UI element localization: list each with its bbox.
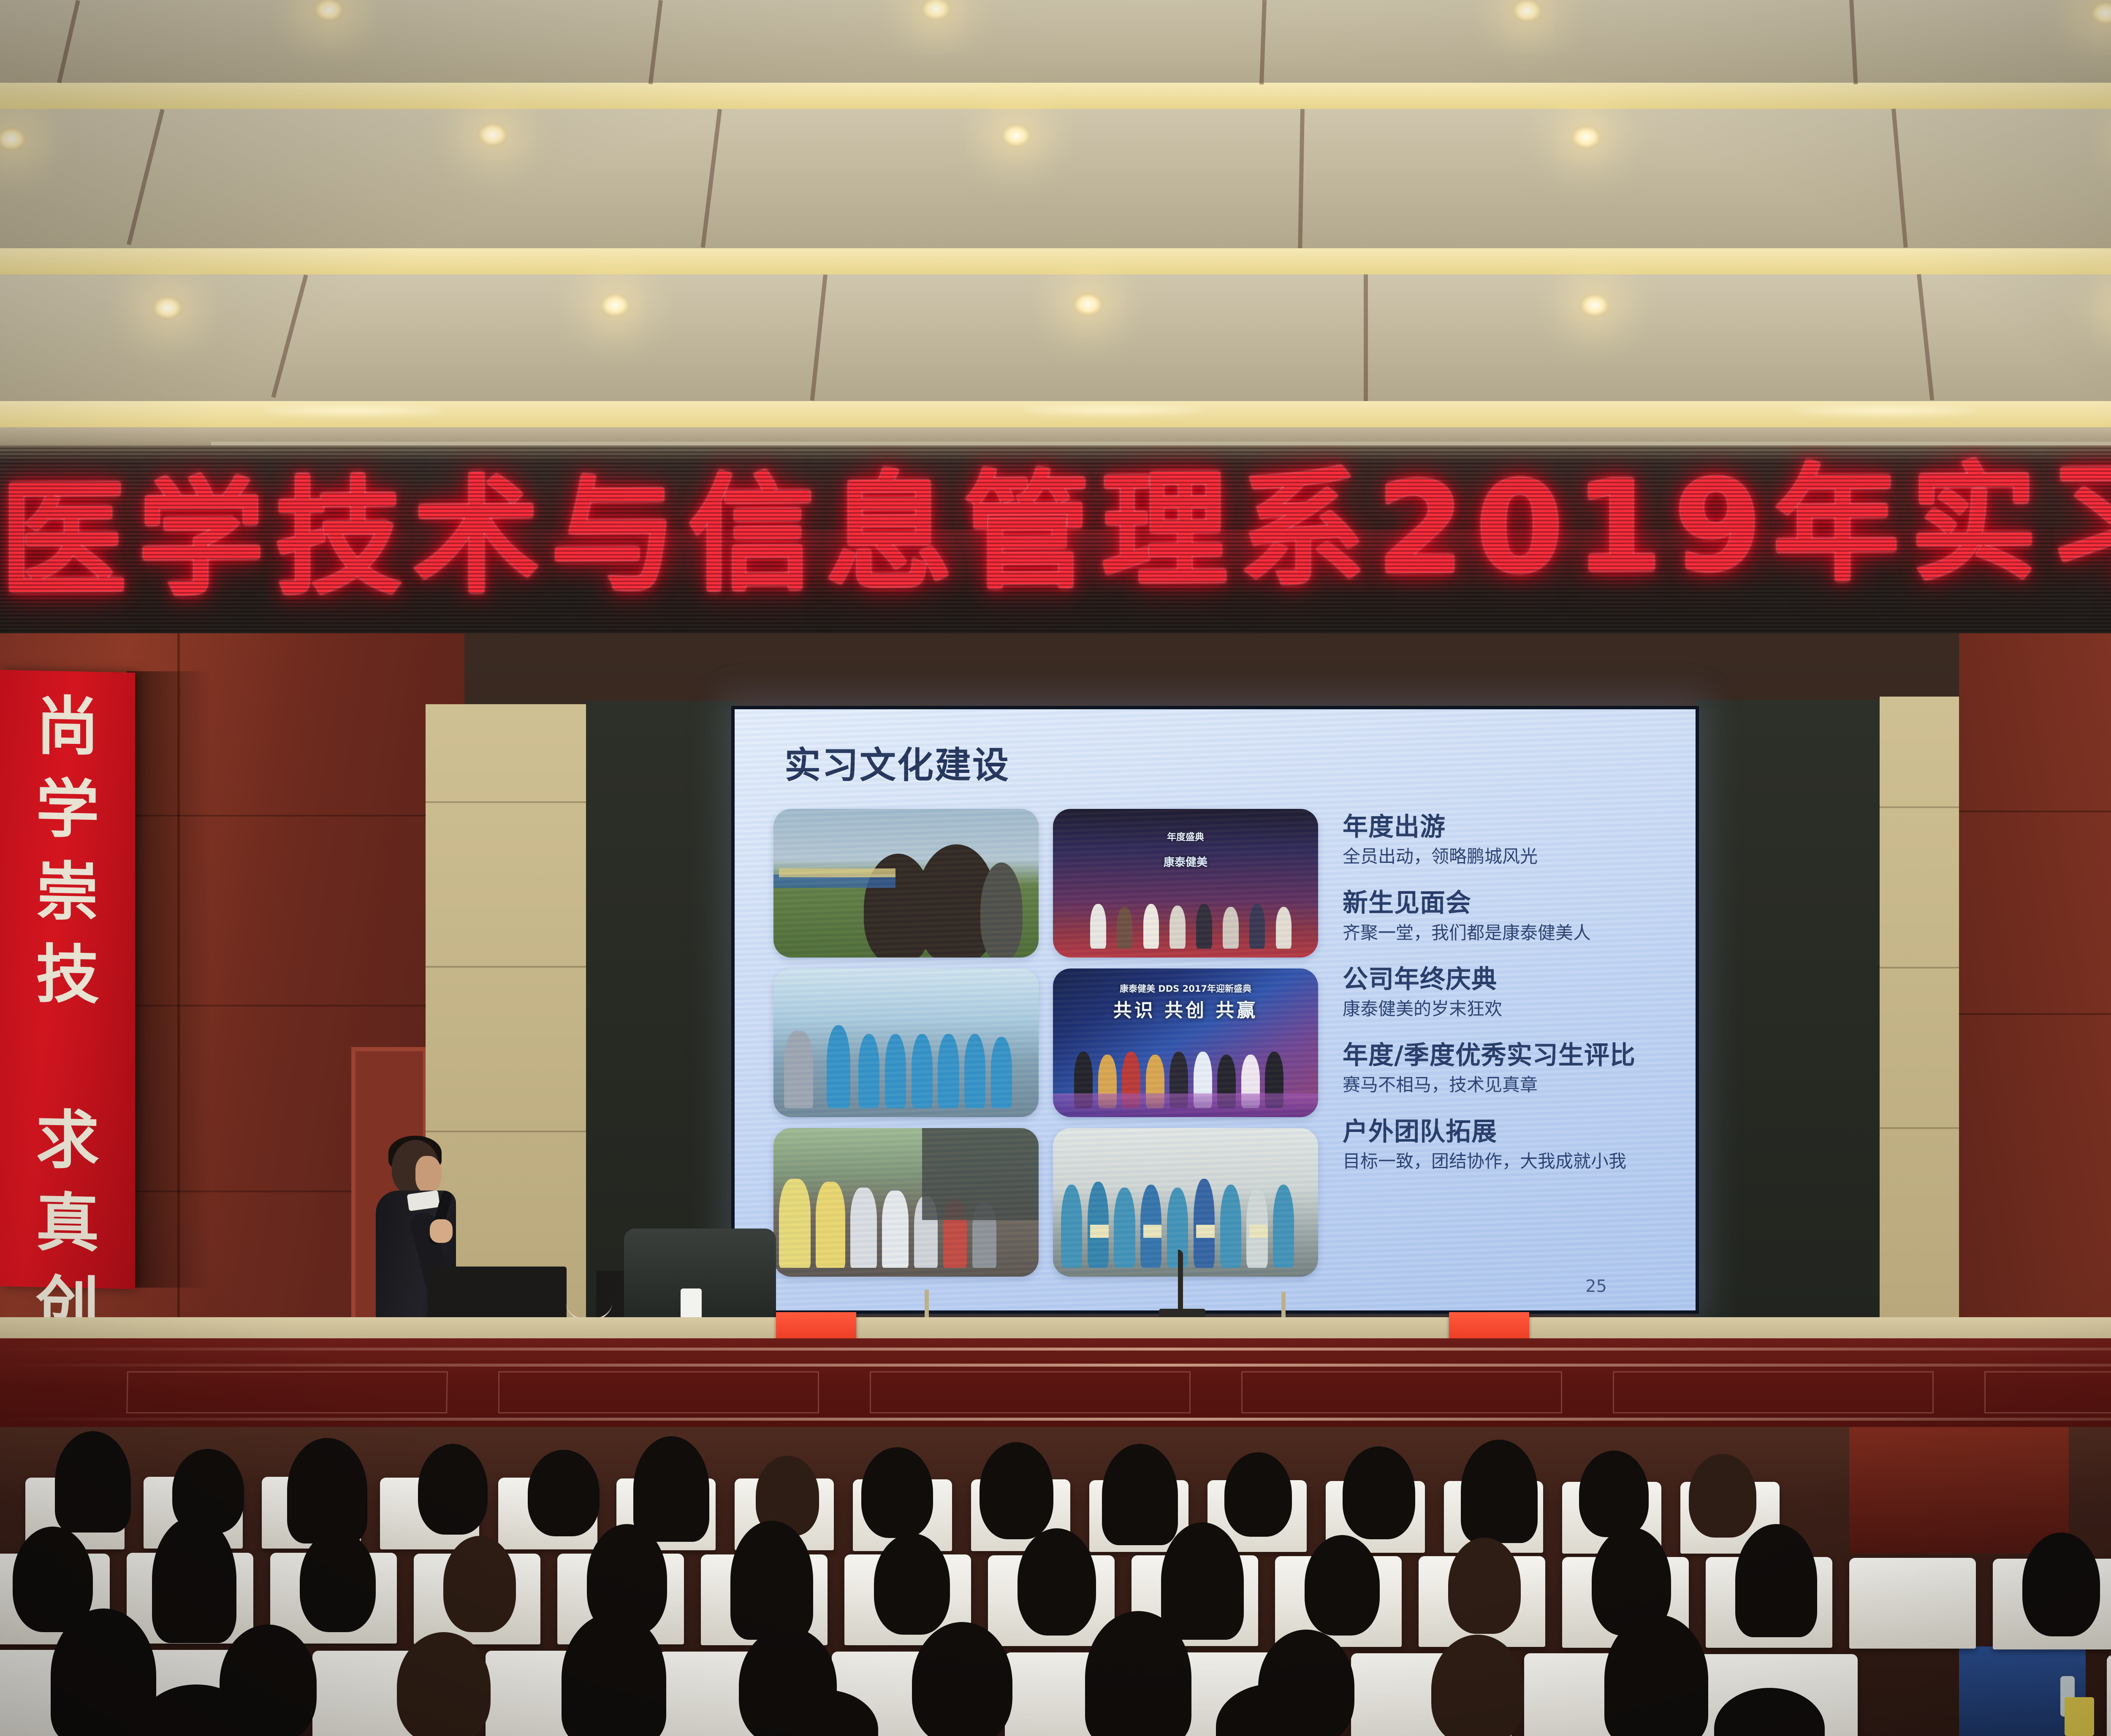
photo-group-outdoor bbox=[773, 1128, 1039, 1277]
block-heading: 公司年终庆典 bbox=[1343, 966, 1663, 994]
photo-subcaption: 康泰健美 bbox=[1053, 854, 1318, 869]
audience-head bbox=[1224, 1452, 1292, 1537]
photo-caption: 康泰健美 DDS 2017年迎新盛典 bbox=[1053, 982, 1318, 995]
led-banner-text: 医学技术与信息管理系2019年实习宣讲会 bbox=[0, 451, 2111, 611]
slide-block: 年度/季度优秀实习生评比 赛马不相马，技术见真章 bbox=[1343, 1042, 1663, 1096]
audience-head bbox=[980, 1442, 1053, 1539]
block-subtext: 康泰健美的岁末狂欢 bbox=[1343, 998, 1663, 1020]
photo-subcaption: 共识 共创 共赢 bbox=[1053, 995, 1318, 1022]
audience-head bbox=[730, 1521, 813, 1640]
led-banner: 医学技术与信息管理系2019年实习宣讲会 bbox=[0, 445, 2111, 640]
audience-head bbox=[1018, 1528, 1096, 1636]
block-subtext: 齐聚一堂，我们都是康泰健美人 bbox=[1343, 922, 1663, 944]
block-heading: 新生见面会 bbox=[1343, 889, 1663, 917]
audience-head bbox=[1461, 1440, 1538, 1543]
left-red-banner: 尚学崇技求真创新 bbox=[0, 670, 135, 1289]
slide-title: 实习文化建设 bbox=[784, 735, 1010, 788]
audience-seating bbox=[0, 1427, 2111, 1736]
audience-head bbox=[1102, 1444, 1178, 1545]
seat bbox=[1849, 1558, 1976, 1649]
wall-wash-light bbox=[1794, 405, 1976, 416]
photo-certificate-group bbox=[1053, 1128, 1318, 1277]
slide-photo-grid: 年度盛典 康泰健美 bbox=[773, 809, 1318, 1277]
audience-head bbox=[528, 1450, 600, 1536]
beige-wall-panel bbox=[1880, 697, 1968, 1321]
aisle-rail bbox=[1849, 1427, 2069, 1554]
photo-outing-hug bbox=[773, 809, 1039, 958]
presenter-hand bbox=[430, 1219, 453, 1243]
audience-head bbox=[418, 1444, 488, 1535]
photo-orientation-meeting bbox=[773, 968, 1039, 1117]
wall-wash-light bbox=[262, 405, 443, 416]
yellow-bag bbox=[2065, 1697, 2094, 1736]
block-subtext: 全员出动，领略鹏城风光 bbox=[1343, 846, 1663, 867]
audience-head bbox=[1735, 1524, 1817, 1637]
projection-screen: 实习文化建设 年度盛典 康泰健美 bbox=[731, 706, 1699, 1314]
slide-text-column: 年度出游 全员出动，领略鹏城风光 新生见面会 齐聚一堂，我们都是康泰健美人 公司… bbox=[1343, 813, 1663, 1194]
audience-head bbox=[1343, 1446, 1415, 1539]
ceiling-downlight bbox=[1001, 123, 1032, 148]
seat bbox=[2107, 1655, 2111, 1736]
slide-block: 公司年终庆典 康泰健美的岁末狂欢 bbox=[1343, 966, 1663, 1020]
audience-head bbox=[2022, 1533, 2100, 1636]
audience-head bbox=[152, 1516, 236, 1643]
audience-head bbox=[55, 1431, 131, 1533]
banner-shadow bbox=[127, 671, 211, 1288]
slide-block: 户外团队拓展 目标一致，团结协作，大我成就小我 bbox=[1343, 1118, 1663, 1172]
table-microphone-stand bbox=[925, 1290, 929, 1319]
audience-head bbox=[1431, 1635, 1524, 1736]
ceiling-downlight bbox=[152, 296, 183, 320]
auditorium-photo: 医学技术与信息管理系2019年实习宣讲会 尚学崇技求真创新 bbox=[0, 0, 2111, 1736]
slide-surface: 实习文化建设 年度盛典 康泰健美 bbox=[735, 709, 1696, 1310]
block-subtext: 目标一致，团结协作，大我成就小我 bbox=[1343, 1150, 1663, 1172]
block-subtext: 赛马不相马，技术见真章 bbox=[1343, 1074, 1663, 1096]
slide-page-number: 25 bbox=[1585, 1277, 1607, 1296]
photo-stage-ceremony: 年度盛典 康泰健美 bbox=[1053, 809, 1318, 958]
wall-wash-light bbox=[1022, 404, 1203, 415]
block-heading: 户外团队拓展 bbox=[1343, 1118, 1663, 1146]
audience-head bbox=[443, 1536, 516, 1632]
presenter-face bbox=[415, 1156, 442, 1192]
paper-cup bbox=[681, 1288, 702, 1321]
slide-block: 新生见面会 齐聚一堂，我们都是康泰健美人 bbox=[1343, 889, 1663, 943]
photo-dds-award-stage: 康泰健美 DDS 2017年迎新盛典 共识 共创 共赢 bbox=[1053, 968, 1318, 1117]
ceiling-downlight bbox=[1571, 125, 1602, 149]
audience-head bbox=[1448, 1538, 1521, 1634]
block-heading: 年度/季度优秀实习生评比 bbox=[1343, 1042, 1663, 1070]
ceiling-downlight bbox=[1579, 293, 1610, 317]
audience-head bbox=[287, 1438, 367, 1543]
audience-head bbox=[633, 1436, 709, 1542]
table-microphone bbox=[1178, 1250, 1183, 1313]
ceiling-downlight bbox=[1072, 292, 1104, 317]
photo-caption: 年度盛典 bbox=[1053, 830, 1318, 843]
floor-cable bbox=[566, 1283, 612, 1321]
audience-head bbox=[1305, 1535, 1380, 1636]
audience-head bbox=[1161, 1522, 1244, 1640]
audience-head bbox=[1604, 1614, 1708, 1736]
audience-head bbox=[874, 1533, 950, 1635]
table-microphone-stand bbox=[1281, 1292, 1286, 1320]
slide-block: 年度出游 全员出动，领略鹏城风光 bbox=[1343, 813, 1663, 867]
audience-head bbox=[397, 1632, 491, 1736]
audience-head bbox=[912, 1622, 1012, 1736]
right-wood-wall bbox=[1959, 633, 2111, 1435]
block-heading: 年度出游 bbox=[1343, 813, 1663, 841]
audience-head bbox=[861, 1447, 933, 1538]
ceiling bbox=[0, 0, 2111, 448]
audience-head bbox=[1579, 1451, 1649, 1537]
audience-head bbox=[562, 1613, 666, 1736]
stage-monitor bbox=[427, 1267, 567, 1321]
audience-head bbox=[1689, 1454, 1756, 1538]
audience-head bbox=[300, 1531, 376, 1632]
dark-acoustic-panel bbox=[1696, 700, 1883, 1320]
ceiling-downlight bbox=[477, 122, 508, 147]
ceiling-downlight bbox=[600, 293, 631, 317]
